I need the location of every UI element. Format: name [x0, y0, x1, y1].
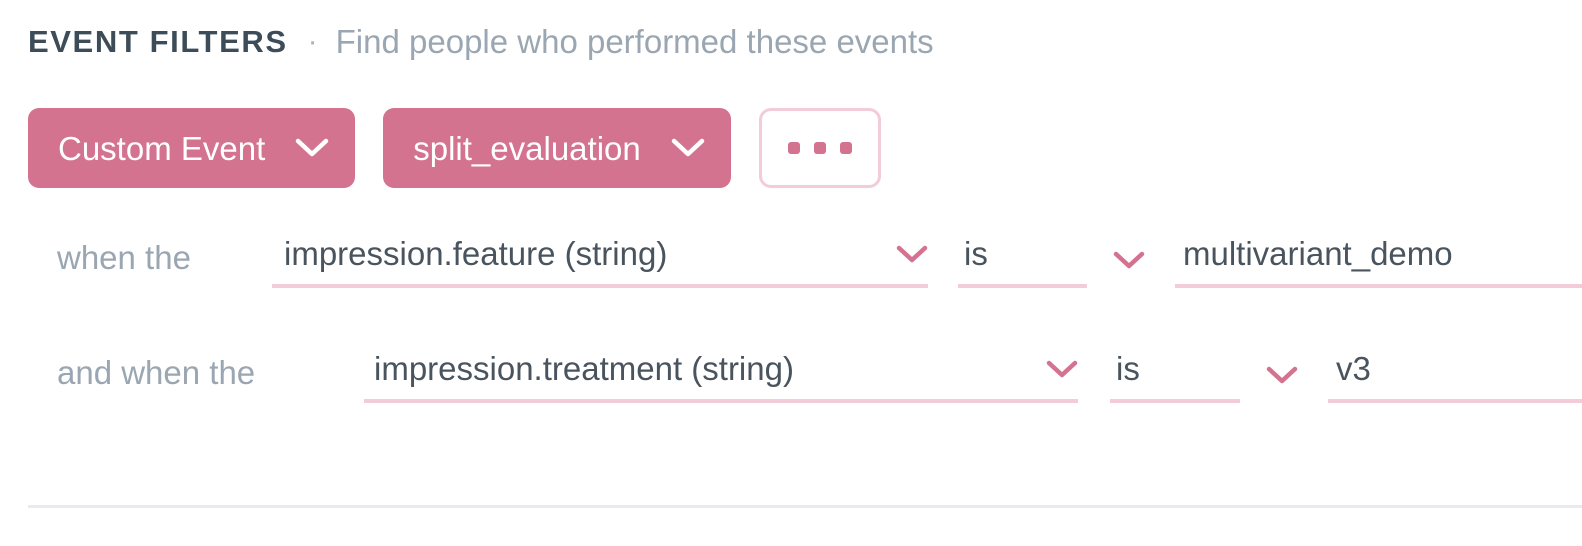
chevron-down-icon	[295, 138, 329, 158]
chevron-down-icon	[1020, 360, 1078, 379]
filter-property-select[interactable]: impression.feature (string)	[272, 232, 928, 288]
event-name-label: split_evaluation	[413, 132, 641, 165]
filter-operator-value: is	[1116, 347, 1140, 391]
filter-property-select[interactable]: impression.treatment (string)	[364, 347, 1078, 403]
filter-property-value: impression.treatment (string)	[374, 347, 794, 391]
chevron-down-icon[interactable]	[1240, 366, 1298, 403]
ellipsis-icon-dot-2	[814, 142, 826, 154]
event-selector-row: Custom Event split_evaluation	[28, 108, 881, 188]
section-header: EVENT FILTERS · Find people who performe…	[28, 18, 934, 66]
filter-property-value: impression.feature (string)	[284, 232, 667, 276]
header-separator: ·	[308, 27, 318, 57]
filter-row: when the impression.feature (string) is …	[57, 232, 1582, 288]
event-type-pill[interactable]: Custom Event	[28, 108, 355, 188]
event-name-pill[interactable]: split_evaluation	[383, 108, 731, 188]
filter-operator-select[interactable]: is	[1110, 347, 1240, 403]
section-subtitle: Find people who performed these events	[336, 23, 934, 61]
chevron-down-icon	[671, 138, 705, 158]
event-filters-panel: EVENT FILTERS · Find people who performe…	[0, 0, 1582, 546]
filter-operator-select[interactable]: is	[958, 232, 1087, 288]
filter-value-text: v3	[1336, 347, 1371, 391]
filter-conjunction-label: when the	[57, 236, 272, 288]
chevron-down-icon[interactable]	[1087, 251, 1145, 288]
event-type-label: Custom Event	[58, 132, 265, 165]
ellipsis-icon	[788, 142, 800, 154]
chevron-down-icon	[870, 245, 928, 264]
more-options-button[interactable]	[759, 108, 881, 188]
filter-value-input[interactable]: v3	[1328, 347, 1582, 403]
ellipsis-icon-dot-3	[840, 142, 852, 154]
section-divider	[28, 505, 1582, 508]
page-title: EVENT FILTERS	[28, 24, 288, 60]
filter-value-input[interactable]: multivariant_demo	[1175, 232, 1582, 288]
filter-operator-value: is	[964, 232, 988, 276]
filter-value-text: multivariant_demo	[1183, 232, 1453, 276]
filter-row: and when the impression.treatment (strin…	[57, 347, 1582, 403]
filter-conjunction-label: and when the	[57, 351, 364, 403]
